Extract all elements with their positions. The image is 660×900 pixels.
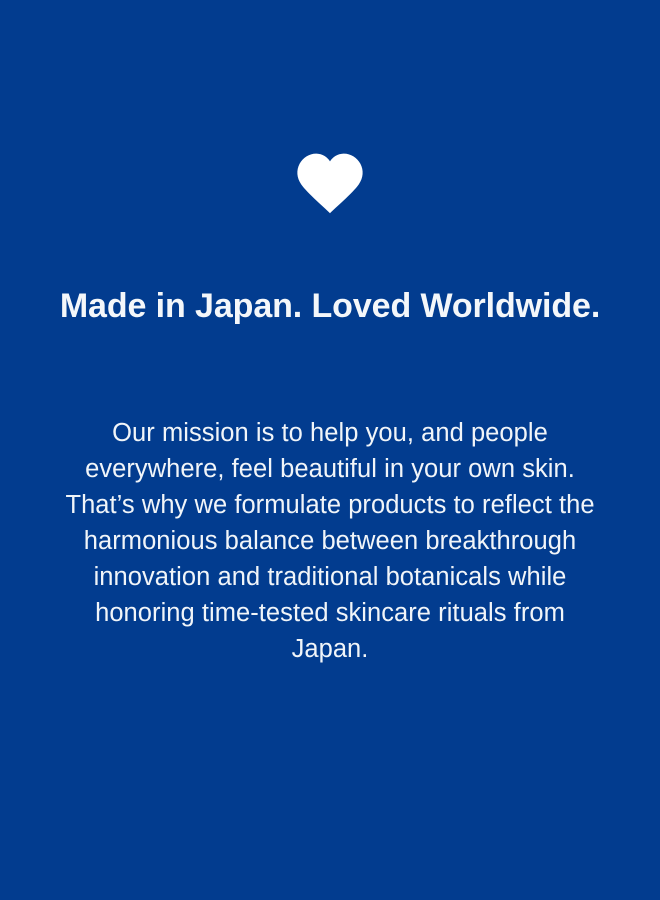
heart-icon: [296, 152, 364, 214]
brand-mark: [0, 152, 660, 214]
page-title: Made in Japan. Loved Worldwide.: [0, 285, 660, 327]
brand-mission-card: Made in Japan. Loved Worldwide. Our miss…: [0, 0, 660, 900]
mission-statement: Our mission is to help you, and people e…: [56, 415, 604, 667]
